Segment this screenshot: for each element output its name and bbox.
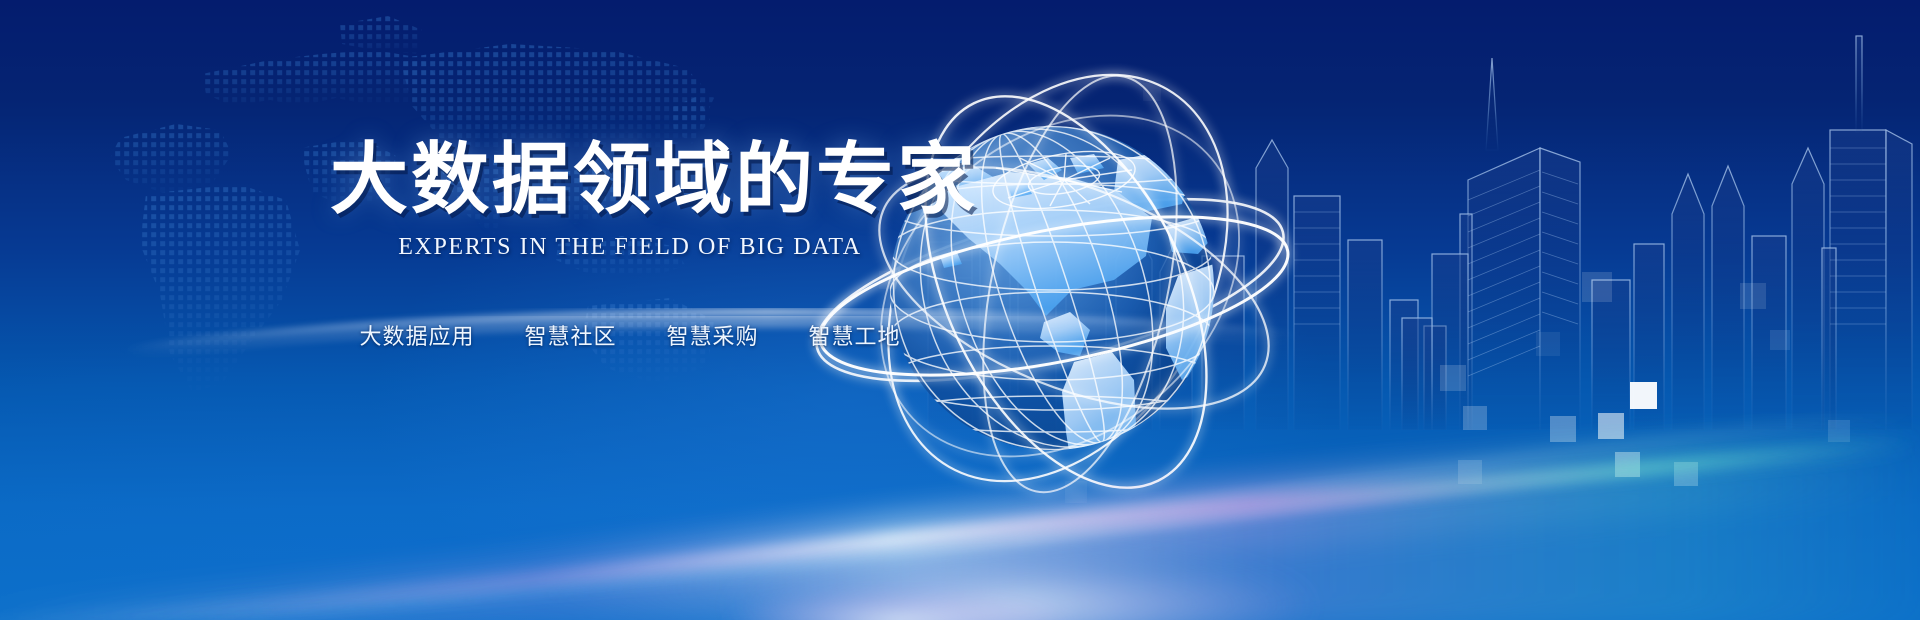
- pixel-square: [1770, 330, 1790, 350]
- pixel-square: [1582, 272, 1612, 302]
- keyword-item-smart-community[interactable]: 智慧社区: [524, 319, 616, 351]
- keyword-item-smart-procurement[interactable]: 智慧采购: [667, 319, 759, 351]
- keyword-item-smart-construction[interactable]: 智慧工地: [809, 319, 901, 351]
- pixel-squares: [1440, 270, 1920, 570]
- pixel-square: [1740, 283, 1766, 309]
- keyword-item-big-data-application[interactable]: 大数据应用: [359, 319, 474, 351]
- pixel-square: [1598, 413, 1624, 439]
- pixel-square: [1828, 420, 1850, 442]
- page-title: 大数据领域的专家: [330, 140, 930, 218]
- pixel-square: [1536, 332, 1560, 356]
- pixel-square: [1458, 460, 1482, 484]
- pixel-square: [1550, 416, 1576, 442]
- page-subtitle: EXPERTS IN THE FIELD OF BIG DATA: [330, 234, 930, 261]
- pixel-square-highlight: [1630, 382, 1657, 409]
- pixel-square: [1463, 406, 1487, 430]
- keyword-list: 大数据应用 智慧社区 智慧采购 智慧工地: [330, 319, 930, 351]
- pixel-square: [1440, 365, 1466, 391]
- pixel-square: [1615, 452, 1640, 477]
- banner-copy: 大数据领域的专家 EXPERTS IN THE FIELD OF BIG DAT…: [330, 140, 930, 351]
- pixel-square: [1674, 462, 1698, 486]
- big-data-hero-banner: 大数据领域的专家 EXPERTS IN THE FIELD OF BIG DAT…: [0, 0, 1920, 620]
